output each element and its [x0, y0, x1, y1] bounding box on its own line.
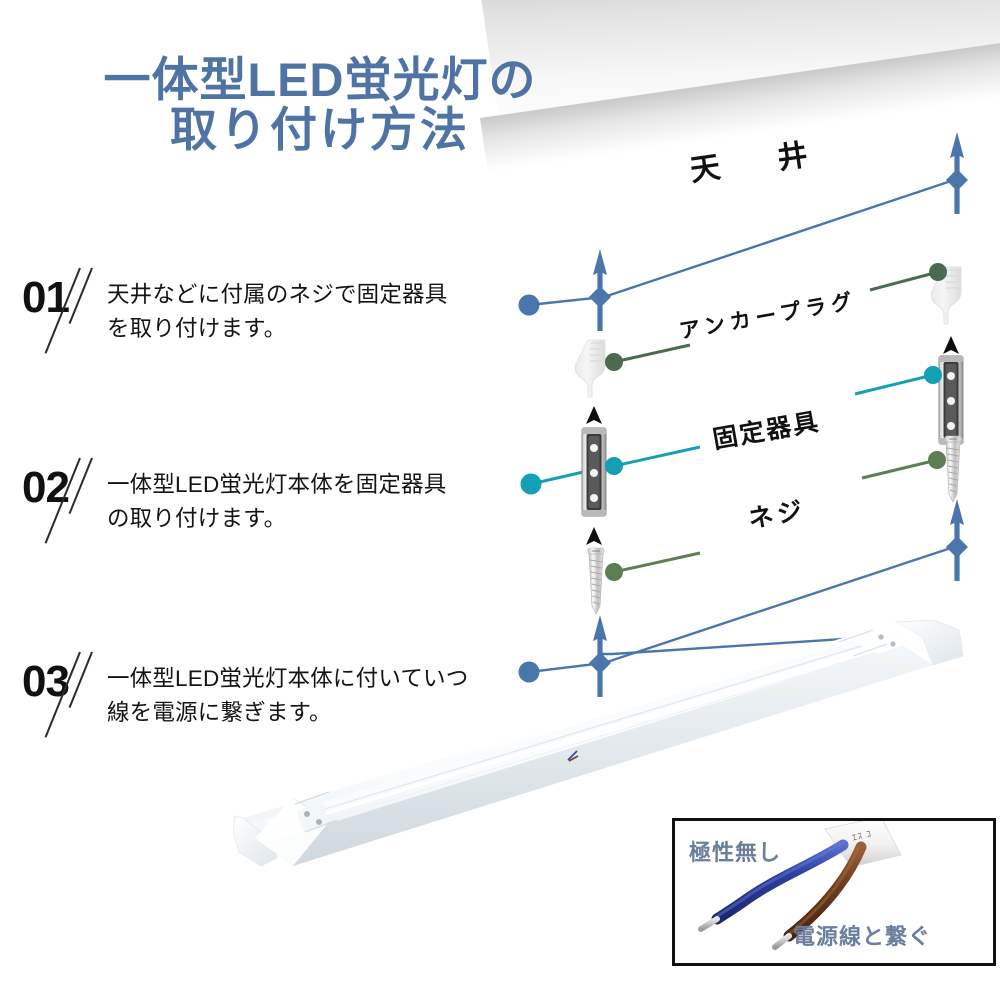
caption-no-polarity: 極性無し: [689, 835, 781, 867]
step-item-01: 01 天井などに付属のネジで固定器具 を取り付けます。: [22, 272, 447, 358]
step-description: 天井などに付属のネジで固定器具 を取り付けます。: [107, 272, 448, 346]
insert-arrow-icon-right-a: [943, 336, 959, 354]
insert-arrow-icon-left-a: [586, 406, 602, 424]
wire-connection-inset: ｴｽ ｺ 極性無し 電源線と繋ぐ: [672, 818, 996, 966]
step-item-02: 02 一体型LED蛍光灯本体を固定器具 の取り付けます。: [22, 462, 446, 548]
assembly-arrow-up-right-top: [946, 132, 968, 214]
step-02-connector: [521, 470, 593, 495]
screw-icon-right: [945, 436, 961, 502]
title-line-2: 取り付け方法: [0, 105, 640, 155]
slash-divider-icon: [65, 462, 111, 548]
mounting-bracket-connector-left: [605, 447, 700, 475]
slash-divider-icon: [65, 272, 111, 358]
caption-connect-power: 電源線と繋ぐ: [793, 919, 931, 951]
step-description: 一体型LED蛍光灯本体に付いていつ 線を電源に繋ぎます。: [107, 656, 469, 730]
step-01-marker-dot: [519, 295, 540, 316]
anchor-plug-connector-left: [605, 345, 690, 371]
anchor-plug-icon-left: [575, 340, 605, 397]
step-description: 一体型LED蛍光灯本体を固定器具 の取り付けます。: [107, 462, 446, 536]
page-title: 一体型LED蛍光灯の 取り付け方法: [0, 55, 640, 155]
step-item-03: 03 一体型LED蛍光灯本体に付いていつ 線を電源に繋ぎます。: [22, 656, 468, 742]
title-line-1: 一体型LED蛍光灯の: [0, 55, 640, 105]
screw-connector-left: [605, 553, 700, 581]
assembly-arrow-up-right-bottom: [946, 499, 968, 581]
infographic-root: 天 井 一体型LED蛍光灯の 取り付け方法 01 天井などに付属のネジで固定器具…: [0, 0, 1000, 1000]
insert-arrow-icon-left-b: [586, 527, 602, 545]
screw-connector-right: [862, 451, 946, 478]
assembly-arrow-up-left-top: [588, 249, 612, 331]
mounting-bracket-icon-left: [582, 428, 606, 516]
mounting-bracket-connector-right: [855, 366, 942, 394]
screw-icon-left: [588, 548, 604, 614]
slash-divider-icon: [65, 656, 111, 742]
mounting-bracket-icon-right: [939, 356, 963, 444]
